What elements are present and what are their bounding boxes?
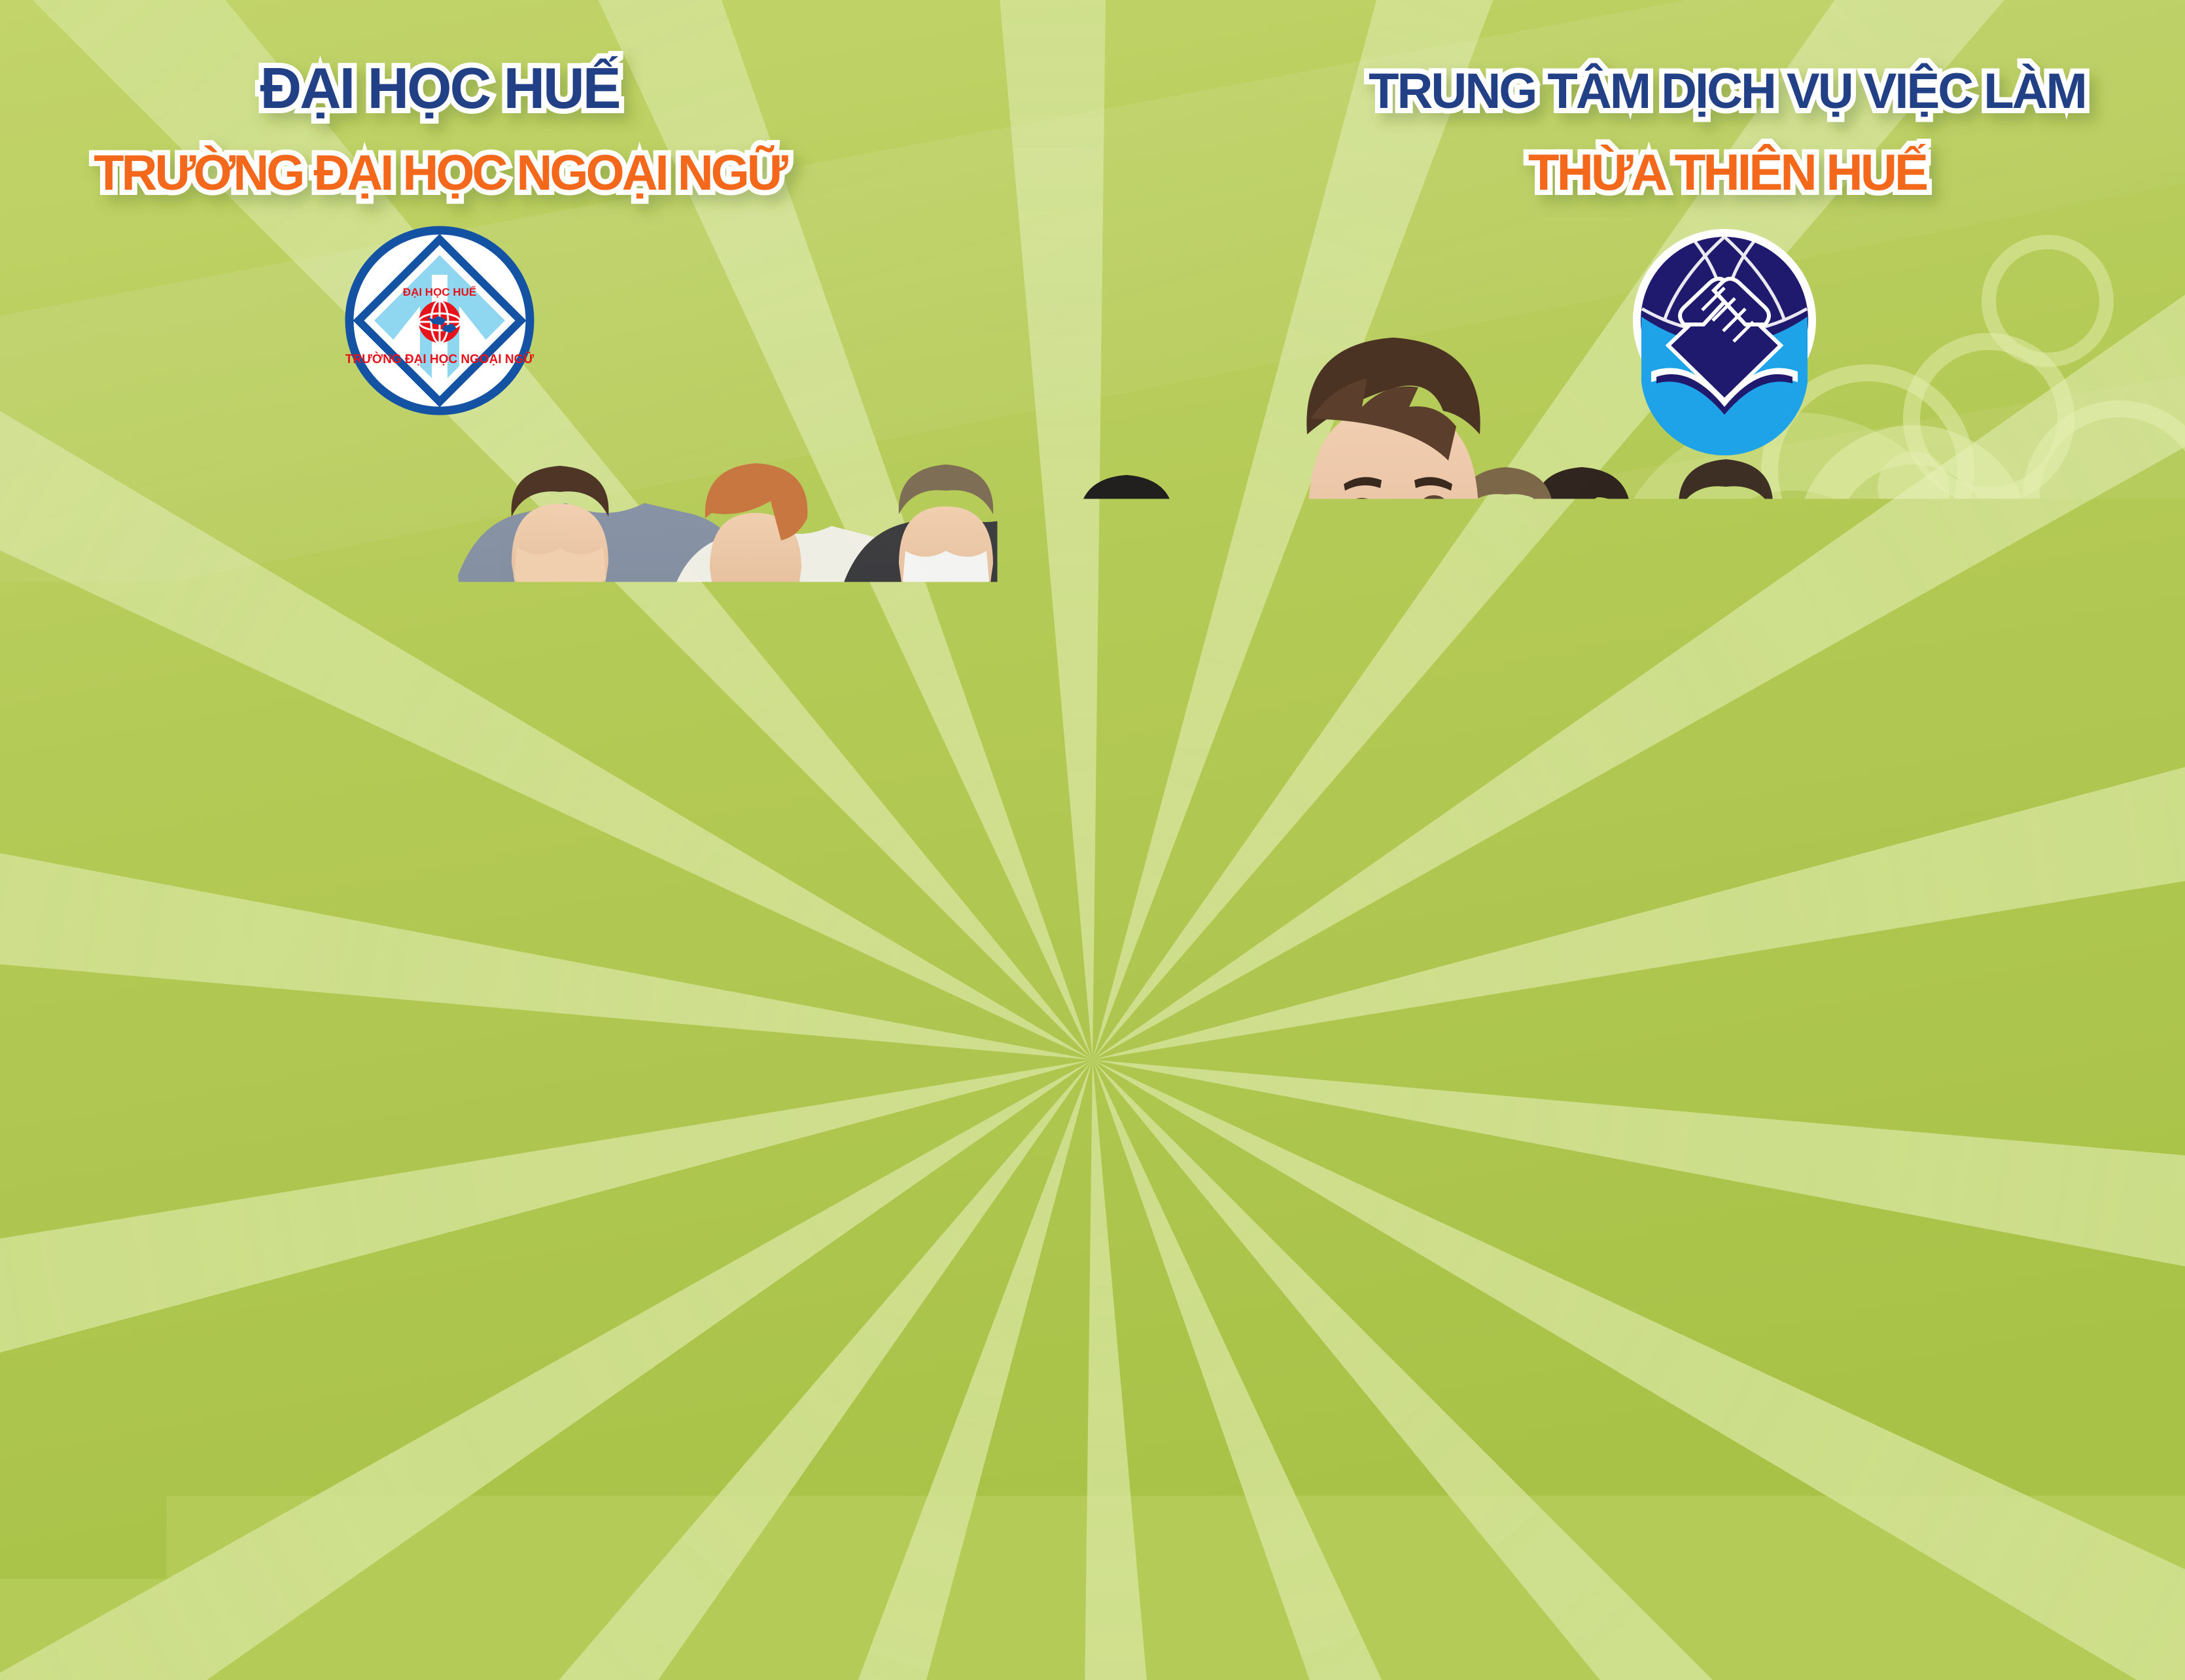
footer-place-label: ĐỊA ĐIỂM: <box>1734 1480 2139 1567</box>
footer-place-value: TRƯỜNG ĐẠI HỌC NGOẠI NGỮ HUẾ <box>790 1572 2146 1659</box>
footer-info: THỜI GIAN: 14/05/2017 ĐỊA ĐIỂM: TRƯỜNG Đ… <box>0 0 2185 1680</box>
poster-root: ĐẠI HỌC HUẾ TRƯỜNG ĐẠI HỌC NGOẠI NGỮ TRU… <box>0 0 2185 1680</box>
footer-time-line: THỜI GIAN: 14/05/2017 <box>1301 1380 2139 1466</box>
